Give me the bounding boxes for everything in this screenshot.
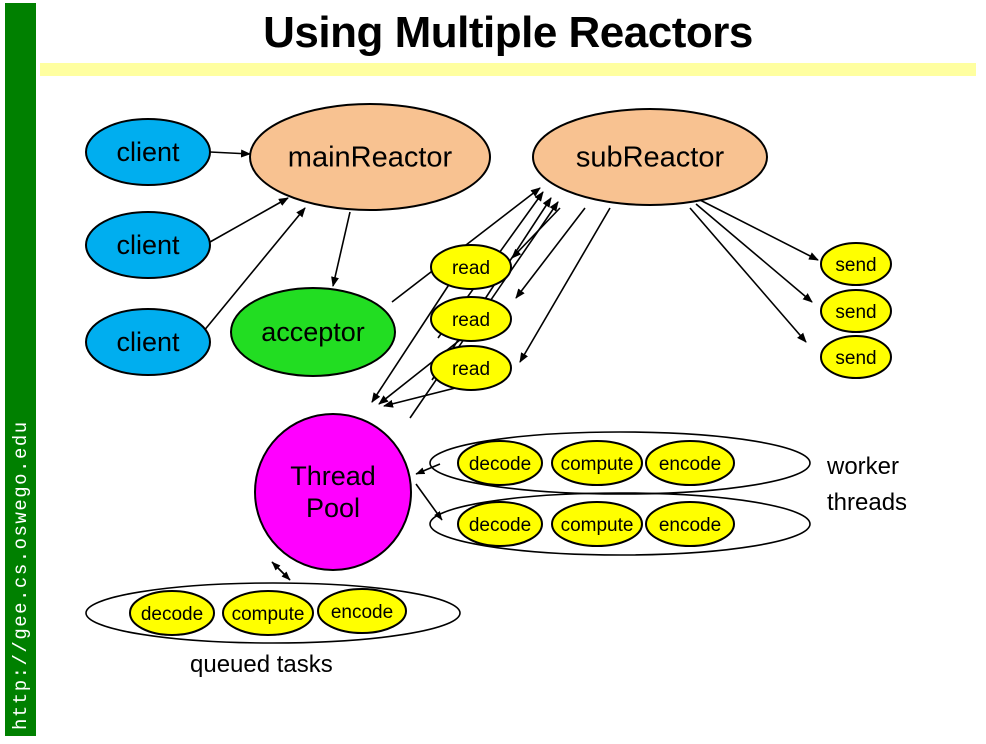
worker-row-2-stage-decode[interactable]: decode <box>458 502 542 546</box>
client-1-label: client <box>116 137 180 167</box>
edge-subreactor-send3 <box>690 208 806 342</box>
main-reactor-label: mainReactor <box>288 142 453 174</box>
slide-canvas: http://gee.cs.oswego.edu Using Multiple … <box>0 0 986 744</box>
worker-row-2-decode-label: decode <box>469 515 531 536</box>
node-send-2[interactable]: send <box>821 290 891 332</box>
node-send-3[interactable]: send <box>821 336 891 378</box>
queued-task-encode-label: encode <box>331 602 393 623</box>
queued-tasks-caption: queued tasks <box>190 651 333 678</box>
node-main-reactor[interactable]: mainReactor <box>250 104 490 210</box>
node-send-1[interactable]: send <box>821 243 891 285</box>
worker-row-2-encode-label: encode <box>659 515 721 536</box>
queued-task-encode[interactable]: encode <box>318 589 406 633</box>
worker-row-2-compute-label: compute <box>561 515 634 536</box>
client-2-label: client <box>116 230 180 260</box>
edge-mainreactor-acceptor <box>333 212 350 286</box>
acceptor-label: acceptor <box>261 317 365 347</box>
worker-row-1-stage-compute[interactable]: compute <box>552 441 642 485</box>
worker-row-1-stage-decode[interactable]: decode <box>458 441 542 485</box>
send-1-label: send <box>835 255 876 276</box>
reactor-diagram: client client client mainReactor subReac… <box>0 80 986 744</box>
edge-subreactor-read2 <box>516 208 585 298</box>
edge-client1-mainreactor <box>210 152 250 154</box>
queued-task-compute[interactable]: compute <box>223 591 313 635</box>
edge-threadpool-worker1 <box>416 464 440 474</box>
worker-row-1-compute-label: compute <box>561 454 634 475</box>
queued-task-compute-label: compute <box>232 604 305 625</box>
worker-thread-row-1[interactable]: decode compute encode <box>430 432 810 494</box>
queued-tasks-group[interactable]: decode compute encode <box>86 583 460 643</box>
thread-pool-label-line1: Thread <box>290 461 376 491</box>
node-read-3[interactable]: read <box>431 346 511 390</box>
worker-row-2-stage-compute[interactable]: compute <box>552 502 642 546</box>
edge-client2-mainreactor <box>210 198 288 242</box>
read-3-label: read <box>452 359 490 380</box>
edge-subreactor-send2 <box>696 204 812 302</box>
node-client-1[interactable]: client <box>86 119 210 185</box>
send-2-label: send <box>835 302 876 323</box>
title-underline-band <box>40 63 976 76</box>
node-client-2[interactable]: client <box>86 212 210 278</box>
edge-subreactor-send1 <box>700 200 818 260</box>
node-read-2[interactable]: read <box>431 297 511 341</box>
node-thread-pool[interactable]: Thread Pool <box>255 414 411 570</box>
worker-row-1-stage-encode[interactable]: encode <box>646 441 734 485</box>
edge-threadpool-queuedtasks <box>272 562 290 580</box>
queued-task-decode-label: decode <box>141 604 203 625</box>
send-3-label: send <box>835 348 876 369</box>
worker-thread-row-2[interactable]: decode compute encode <box>430 493 810 555</box>
worker-threads-caption-line2: threads <box>827 489 907 516</box>
worker-row-2-stage-encode[interactable]: encode <box>646 502 734 546</box>
node-sub-reactor[interactable]: subReactor <box>533 109 767 205</box>
thread-pool-label-line2: Pool <box>306 493 360 523</box>
worker-row-1-decode-label: decode <box>469 454 531 475</box>
worker-row-1-encode-label: encode <box>659 454 721 475</box>
read-1-label: read <box>452 258 490 279</box>
queued-task-decode[interactable]: decode <box>130 591 214 635</box>
page-title: Using Multiple Reactors <box>40 4 976 62</box>
sub-reactor-label: subReactor <box>576 142 725 174</box>
client-3-label: client <box>116 327 180 357</box>
node-acceptor[interactable]: acceptor <box>231 288 395 376</box>
node-client-3[interactable]: client <box>86 309 210 375</box>
worker-threads-caption-line1: worker <box>826 453 899 480</box>
edge-subreactor-read3 <box>520 208 610 362</box>
node-read-1[interactable]: read <box>431 245 511 289</box>
read-2-label: read <box>452 310 490 331</box>
